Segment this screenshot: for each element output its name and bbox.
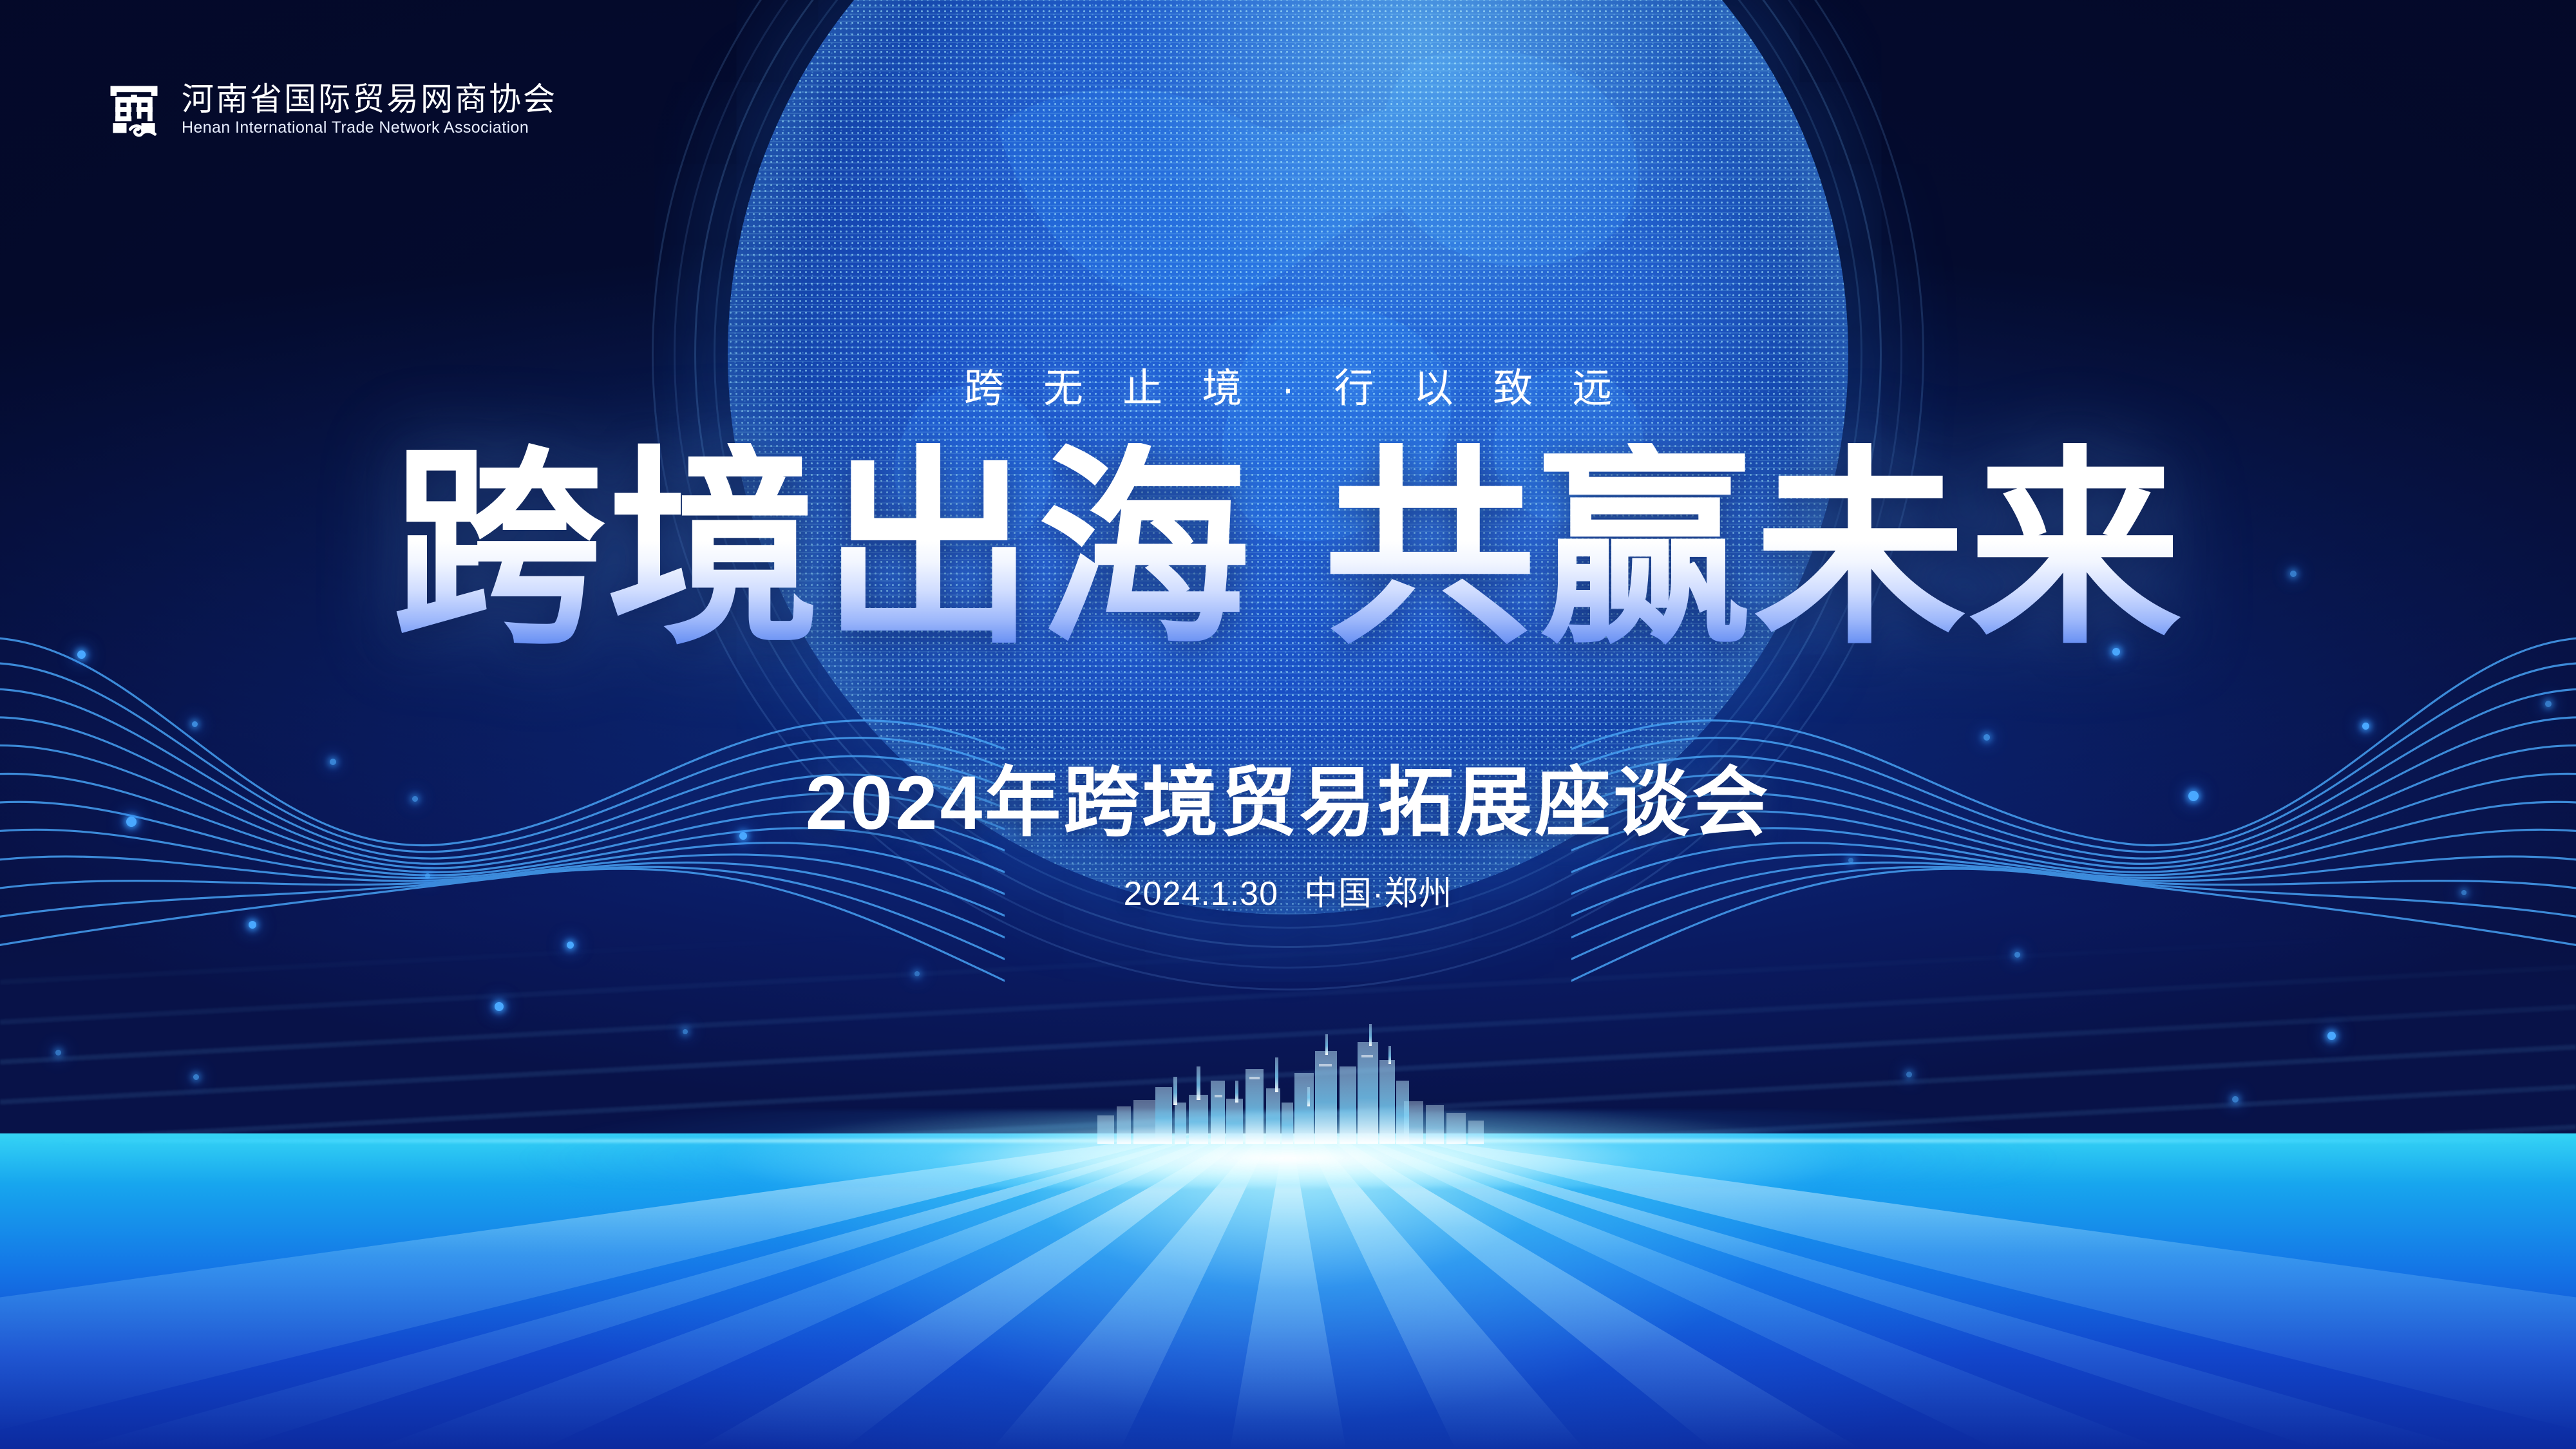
main-headline: 跨境出海共赢未来: [0, 443, 2576, 656]
event-location: 中国·郑州: [1304, 875, 1452, 913]
light-burst-icon: [0, 1133, 2576, 1449]
city-skyline-icon: [1088, 1005, 1488, 1144]
ground-plane: [0, 1133, 2576, 1449]
horizon-glow: [0, 1110, 2576, 1188]
horizon-line: [0, 1139, 2576, 1142]
particle-dots-icon: [0, 0, 2576, 1449]
event-subtitle: 2024年跨境贸易拓展座谈会: [0, 741, 2576, 851]
tagline: 跨 无 止 境 · 行 以 致 远: [0, 355, 2576, 413]
logo-text-block: 河南省国际贸易网商协会 Henan International Trade Ne…: [182, 82, 557, 137]
association-name-cn: 河南省国际贸易网商协会: [182, 82, 557, 117]
event-date-location: 2024.1.30中国·郑州: [0, 866, 2576, 914]
association-name-en: Henan International Trade Network Associ…: [182, 119, 557, 137]
association-logo: 河南省国际贸易网商协会 Henan International Trade Ne…: [103, 79, 557, 140]
conference-banner: 河南省国际贸易网商协会 Henan International Trade Ne…: [0, 0, 2576, 1449]
headline-part-1: 跨境出海: [392, 443, 1253, 656]
seal-script-emblem-icon: [103, 79, 165, 140]
headline-part-2: 共赢未来: [1323, 443, 2184, 656]
event-date: 2024.1.30: [1124, 875, 1278, 913]
light-streaks-icon: [0, 934, 2576, 1146]
